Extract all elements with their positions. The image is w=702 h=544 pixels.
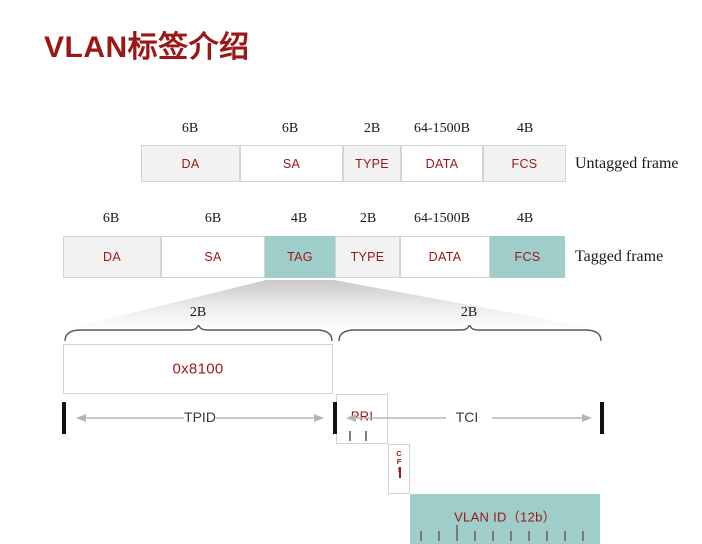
tagged-cell-data-label: DATA — [429, 250, 462, 264]
cfi-letter-f: F — [397, 458, 402, 466]
untagged-size-label-fcs: 4B — [500, 121, 550, 137]
tagged-size-label-da: 6B — [86, 211, 136, 227]
untagged-cell-da-label: DA — [182, 157, 200, 171]
vlanid-tick-5 — [492, 531, 494, 541]
untagged-size-label-type: 2B — [347, 121, 397, 137]
vlanid-tick-6 — [510, 531, 512, 541]
tagged-cell-da-label: DA — [103, 250, 121, 264]
untagged-size-label-sa: 6B — [265, 121, 315, 137]
vlanid-tick-9 — [564, 531, 566, 541]
brace-tpid-icon — [63, 325, 334, 342]
tagged-size-label-sa: 6B — [188, 211, 238, 227]
tagged-cell-tag[interactable]: TAG — [265, 236, 335, 278]
measure-label-tci: TCI — [417, 409, 517, 425]
untagged-size-label-da: 6B — [165, 121, 215, 137]
tagged-cell-data[interactable]: DATA — [400, 236, 490, 278]
untagged-cell-fcs-label: FCS — [512, 157, 538, 171]
untagged-frame-caption: Untagged frame — [575, 155, 679, 173]
tagged-cell-tag-label: TAG — [287, 250, 313, 264]
vlanid-tick-7 — [528, 531, 530, 541]
tagged-size-label-tag: 4B — [274, 211, 324, 227]
untagged-size-label-data: 64-1500B — [396, 121, 488, 137]
detail-field-vlanid-label: VLAN ID（12b） — [411, 507, 599, 526]
measure-bar-left — [62, 402, 66, 434]
tagged-frame-caption: Tagged frame — [575, 248, 663, 266]
detail-size-label-tpid: 2B — [173, 305, 223, 321]
vlanid-tick-4 — [474, 531, 476, 541]
untagged-cell-data-label: DATA — [426, 157, 459, 171]
detail-field-vlanid[interactable]: VLAN ID（12b） — [410, 494, 600, 544]
detail-field-cfi[interactable]: C F I — [388, 444, 410, 494]
untagged-cell-da[interactable]: DA — [141, 145, 240, 182]
vlanid-tick-8 — [546, 531, 548, 541]
brace-tci-icon — [337, 325, 603, 342]
tagged-cell-sa[interactable]: SA — [161, 236, 265, 278]
vlanid-tick-3 — [456, 525, 458, 541]
tagged-size-label-fcs: 4B — [500, 211, 550, 227]
tagged-size-label-type: 2B — [343, 211, 393, 227]
vlanid-tick-2 — [438, 531, 440, 541]
detail-field-tpid[interactable]: 0x8100 — [63, 344, 333, 394]
page-title: VLAN标签介绍 — [44, 22, 250, 66]
pri-tick-2 — [365, 431, 367, 441]
tagged-cell-sa-label: SA — [204, 250, 221, 264]
untagged-cell-sa-label: SA — [283, 157, 300, 171]
untagged-cell-fcs[interactable]: FCS — [483, 145, 566, 182]
measure-bar-middle — [333, 402, 337, 434]
detail-field-tpid-label: 0x8100 — [64, 361, 332, 378]
cfi-tick-1 — [399, 467, 401, 478]
measure-bar-right — [600, 402, 604, 434]
untagged-cell-type-label: TYPE — [355, 157, 389, 171]
untagged-cell-sa[interactable]: SA — [240, 145, 343, 182]
tagged-cell-da[interactable]: DA — [63, 236, 161, 278]
vlanid-tick-1 — [420, 531, 422, 541]
tagged-cell-fcs-label: FCS — [515, 250, 541, 264]
untagged-cell-type[interactable]: TYPE — [343, 145, 401, 182]
tagged-cell-type-label: TYPE — [351, 250, 385, 264]
tagged-cell-type[interactable]: TYPE — [335, 236, 400, 278]
detail-size-label-tci: 2B — [444, 305, 494, 321]
measure-label-tpid: TPID — [150, 409, 250, 425]
untagged-cell-data[interactable]: DATA — [401, 145, 483, 182]
pri-tick-1 — [349, 431, 351, 441]
tagged-cell-fcs[interactable]: FCS — [490, 236, 565, 278]
vlanid-tick-10 — [582, 531, 584, 541]
tagged-size-label-data: 64-1500B — [396, 211, 488, 227]
